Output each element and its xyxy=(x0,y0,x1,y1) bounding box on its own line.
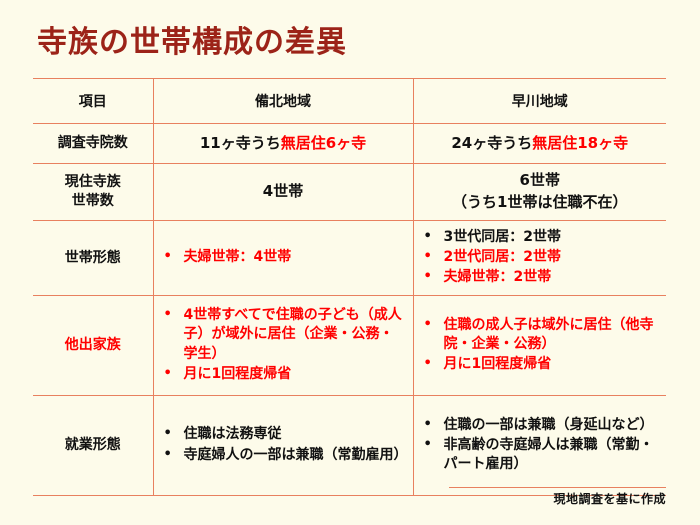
row-label: 現住寺族 世帯数 xyxy=(33,164,153,221)
row-label: 就業形態 xyxy=(33,396,153,496)
bullet-dot-icon: • xyxy=(158,425,184,443)
bullet-item: •非高齢の寺庭婦人は兼職（常勤・パート雇用） xyxy=(418,436,663,475)
bullet-item: •月に1回程度帰省 xyxy=(158,365,409,384)
bullet-item: •住職の一部は兼職（身延山など） xyxy=(418,416,663,435)
comparison-table: 項目 備北地域 早川地域 調査寺院数11ヶ寺うち無居住6ヶ寺24ヶ寺うち無居住1… xyxy=(33,78,666,496)
bullet-text: 非高齢の寺庭婦人は兼職（常勤・パート雇用） xyxy=(444,436,663,475)
bullet-text: 住職の成人子は域外に居住（他寺院・企業・公務） xyxy=(444,316,663,355)
bullet-item: •夫婦世帯：2世帯 xyxy=(418,268,663,287)
bullet-dot-icon: • xyxy=(418,228,444,246)
table-cell-bullets: •住職の一部は兼職（身延山など）•非高齢の寺庭婦人は兼職（常勤・パート雇用） xyxy=(413,396,666,496)
row-label: 調査寺院数 xyxy=(33,124,153,164)
bullet-item: •月に1回程度帰省 xyxy=(418,355,663,374)
bullet-text: 月に1回程度帰省 xyxy=(184,365,409,384)
bullet-dot-icon: • xyxy=(418,355,444,373)
bullet-item: •2世代同居：2世帯 xyxy=(418,248,663,267)
column-header-hayakawa: 早川地域 xyxy=(413,79,666,124)
table-body: 調査寺院数11ヶ寺うち無居住6ヶ寺24ヶ寺うち無居住18ヶ寺現住寺族 世帯数4世… xyxy=(33,124,666,496)
bullet-text: 3世代同居：2世帯 xyxy=(444,228,663,247)
bullet-list: •4世帯すべてで住職の子ども（成人子）が域外に居住（企業・公務・学生）•月に1回… xyxy=(158,306,409,384)
table-cell-bullets: •4世帯すべてで住職の子ども（成人子）が域外に居住（企業・公務・学生）•月に1回… xyxy=(153,296,413,396)
bullet-text: 夫婦世帯：4世帯 xyxy=(184,248,409,267)
bullet-item: •住職は法務専従 xyxy=(158,425,409,444)
table-cell-text: 4世帯 xyxy=(153,164,413,221)
bullet-dot-icon: • xyxy=(418,248,444,266)
column-header-bihoku: 備北地域 xyxy=(153,79,413,124)
bullet-text: 2世代同居：2世帯 xyxy=(444,248,663,267)
comparison-table-wrapper: 項目 備北地域 早川地域 調査寺院数11ヶ寺うち無居住6ヶ寺24ヶ寺うち無居住1… xyxy=(33,78,666,496)
table-cell-bullets: •住職の成人子は域外に居住（他寺院・企業・公務）•月に1回程度帰省 xyxy=(413,296,666,396)
bullet-item: •夫婦世帯：4世帯 xyxy=(158,248,409,267)
bullet-text: 月に1回程度帰省 xyxy=(444,355,663,374)
bullet-item: •3世代同居：2世帯 xyxy=(418,228,663,247)
table-row: 他出家族•4世帯すべてで住職の子ども（成人子）が域外に居住（企業・公務・学生）•… xyxy=(33,296,666,396)
bullet-dot-icon: • xyxy=(418,268,444,286)
bullet-dot-icon: • xyxy=(418,416,444,434)
bullet-dot-icon: • xyxy=(158,248,184,266)
cell-text-highlight: 無居住6ヶ寺 xyxy=(281,134,366,152)
footer-source-note: 現地調査を基に作成 xyxy=(553,490,666,507)
bullet-list: •夫婦世帯：4世帯 xyxy=(158,248,409,267)
table-row: 世帯形態•夫婦世帯：4世帯•3世代同居：2世帯•2世代同居：2世帯•夫婦世帯：2… xyxy=(33,221,666,296)
bullet-item: •4世帯すべてで住職の子ども（成人子）が域外に居住（企業・公務・学生） xyxy=(158,306,409,364)
bullet-text: 住職の一部は兼職（身延山など） xyxy=(444,416,663,435)
bullet-list: •3世代同居：2世帯•2世代同居：2世帯•夫婦世帯：2世帯 xyxy=(418,228,663,288)
table-row: 現住寺族 世帯数4世帯6世帯 （うち1世帯は住職不在） xyxy=(33,164,666,221)
slide-root: 寺族の世帯構成の差異 項目 備北地域 早川地域 調査寺院数11ヶ寺うち無居住6ヶ… xyxy=(0,0,700,525)
cell-text-plain: 11ヶ寺うち xyxy=(200,134,281,152)
bullet-list: •住職は法務専従•寺庭婦人の一部は兼職（常勤雇用） xyxy=(158,425,409,465)
table-cell-mixed: 24ヶ寺うち無居住18ヶ寺 xyxy=(413,124,666,164)
table-cell-bullets: •住職は法務専従•寺庭婦人の一部は兼職（常勤雇用） xyxy=(153,396,413,496)
cell-text-highlight: 無居住18ヶ寺 xyxy=(532,134,628,152)
table-row: 調査寺院数11ヶ寺うち無居住6ヶ寺24ヶ寺うち無居住18ヶ寺 xyxy=(33,124,666,164)
bullet-text: 夫婦世帯：2世帯 xyxy=(444,268,663,287)
bullet-dot-icon: • xyxy=(158,365,184,383)
bullet-dot-icon: • xyxy=(158,446,184,464)
page-title: 寺族の世帯構成の差異 xyxy=(37,26,347,59)
bullet-list: •住職の成人子は域外に居住（他寺院・企業・公務）•月に1回程度帰省 xyxy=(418,316,663,375)
bullet-dot-icon: • xyxy=(158,306,184,324)
cell-text-plain: 24ヶ寺うち xyxy=(451,134,532,152)
bullet-item: •住職の成人子は域外に居住（他寺院・企業・公務） xyxy=(418,316,663,355)
row-label: 世帯形態 xyxy=(33,221,153,296)
bullet-text: 寺庭婦人の一部は兼職（常勤雇用） xyxy=(184,446,409,465)
table-cell-mixed: 11ヶ寺うち無居住6ヶ寺 xyxy=(153,124,413,164)
bullet-text: 4世帯すべてで住職の子ども（成人子）が域外に居住（企業・公務・学生） xyxy=(184,306,409,364)
table-cell-bullets: •3世代同居：2世帯•2世代同居：2世帯•夫婦世帯：2世帯 xyxy=(413,221,666,296)
bullet-list: •住職の一部は兼職（身延山など）•非高齢の寺庭婦人は兼職（常勤・パート雇用） xyxy=(418,416,663,475)
bullet-dot-icon: • xyxy=(418,436,444,454)
bullet-text: 住職は法務専従 xyxy=(184,425,409,444)
row-label: 他出家族 xyxy=(33,296,153,396)
bullet-dot-icon: • xyxy=(418,316,444,334)
bullet-item: •寺庭婦人の一部は兼職（常勤雇用） xyxy=(158,446,409,465)
footer-divider xyxy=(449,487,666,488)
table-header: 項目 備北地域 早川地域 xyxy=(33,79,666,124)
table-header-row: 項目 備北地域 早川地域 xyxy=(33,79,666,124)
table-row: 就業形態•住職は法務専従•寺庭婦人の一部は兼職（常勤雇用）•住職の一部は兼職（身… xyxy=(33,396,666,496)
table-cell-text: 6世帯 （うち1世帯は住職不在） xyxy=(413,164,666,221)
column-header-item: 項目 xyxy=(33,79,153,124)
table-cell-bullets: •夫婦世帯：4世帯 xyxy=(153,221,413,296)
